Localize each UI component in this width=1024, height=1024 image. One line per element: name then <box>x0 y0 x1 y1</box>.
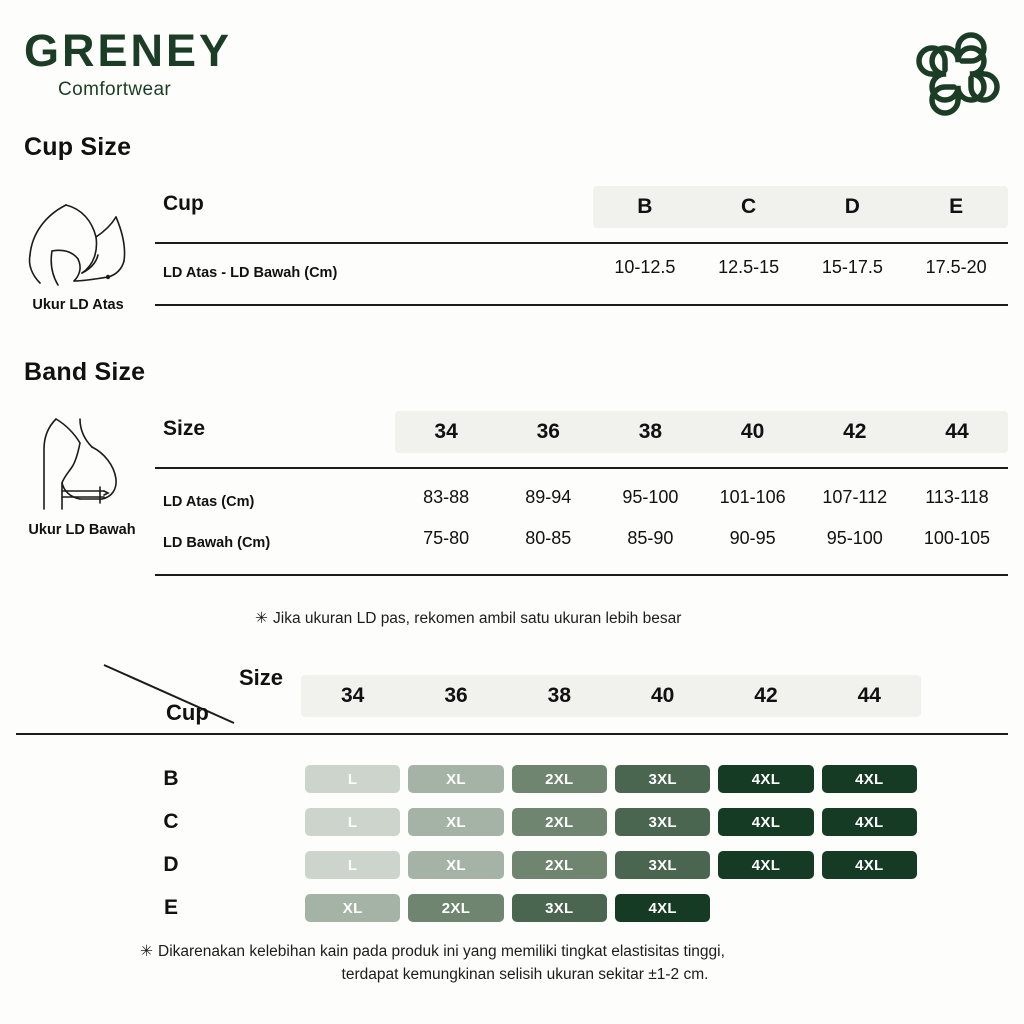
ukur-ld-atas-illustration: Ukur LD Atas <box>8 193 148 313</box>
note-recommendation-text: Jika ukuran LD pas, rekomen ambil satu u… <box>273 610 681 627</box>
cup-value-cell: 15-17.5 <box>801 253 905 281</box>
asterisk-icon: ✳ <box>140 940 158 963</box>
matrix-row-cup-label: B <box>153 765 189 793</box>
brand-tagline: Comfortwear <box>58 79 232 101</box>
band-column-header: 34 <box>395 411 497 453</box>
torso-underbust-measure-icon <box>22 413 142 518</box>
matrix-row: B L XL 2XL 3XL 4XL 4XL <box>16 765 1008 793</box>
size-chart-page: GRENEY Comfortwear Cup Size <box>0 0 1024 1024</box>
matrix-row: C L XL 2XL 3XL 4XL 4XL <box>16 808 1008 836</box>
cup-value-cell: 17.5-20 <box>904 253 1008 281</box>
matrix-column-header: 40 <box>611 675 714 717</box>
cup-size-table: Cup B C D E LD Atas - LD Bawah (Cm) 10-1… <box>155 186 1008 306</box>
illustration-caption: Ukur LD Bawah <box>8 522 156 538</box>
band-column-header: 38 <box>599 411 701 453</box>
cup-column-header: D <box>801 186 905 228</box>
band-column-header: 42 <box>804 411 906 453</box>
band-size-heading: Band Size <box>24 358 145 387</box>
band-table-divider-bottom <box>155 574 1008 576</box>
note-elasticity: ✳Dikarenakan kelebihan kain pada produk … <box>140 940 900 987</box>
quatrefoil-clover-logo-icon <box>916 32 1000 116</box>
matrix-row-pills: L XL 2XL 3XL 4XL 4XL <box>301 851 921 879</box>
band-value-cell: 83-88 <box>395 484 497 510</box>
band-column-headers: 34 36 38 40 42 44 <box>395 411 1008 453</box>
matrix-divider <box>16 733 1008 735</box>
band-row-label: LD Atas (Cm) <box>163 494 254 510</box>
size-pill: 4XL <box>822 808 917 836</box>
size-pill <box>822 894 917 922</box>
brand-name: GRENEY <box>24 28 232 73</box>
matrix-row: D L XL 2XL 3XL 4XL 4XL <box>16 851 1008 879</box>
cup-table-divider-top <box>155 242 1008 244</box>
band-value-row: 83-88 89-94 95-100 101-106 107-112 113-1… <box>395 484 1008 510</box>
band-column-header: 36 <box>497 411 599 453</box>
matrix-column-header: 44 <box>818 675 921 717</box>
band-table-header-label: Size <box>163 417 205 441</box>
cup-value-cell: 12.5-15 <box>697 253 801 281</box>
band-value-cell: 113-118 <box>906 484 1008 510</box>
size-pill: 2XL <box>512 851 607 879</box>
note-elasticity-line1: Dikarenakan kelebihan kain pada produk i… <box>158 943 725 960</box>
matrix-column-header: 36 <box>404 675 507 717</box>
matrix-row-cup-label: E <box>153 894 189 922</box>
size-pill: 4XL <box>718 765 813 793</box>
matrix-row-pills: L XL 2XL 3XL 4XL 4XL <box>301 808 921 836</box>
size-pill: L <box>305 851 400 879</box>
cup-column-header: B <box>593 186 697 228</box>
size-pill: 4XL <box>718 851 813 879</box>
cup-table-divider-bottom <box>155 304 1008 306</box>
band-column-header: 40 <box>702 411 804 453</box>
size-pill: 2XL <box>408 894 503 922</box>
size-pill: 4XL <box>615 894 710 922</box>
band-value-cell: 100-105 <box>906 525 1008 551</box>
size-pill: L <box>305 808 400 836</box>
matrix-column-header: 42 <box>714 675 817 717</box>
matrix-row-pills: L XL 2XL 3XL 4XL 4XL <box>301 765 921 793</box>
band-size-table: Size 34 36 38 40 42 44 LD Atas (Cm) 83-8… <box>155 411 1008 576</box>
band-value-cell: 80-85 <box>497 525 599 551</box>
note-recommendation: ✳Jika ukuran LD pas, rekomen ambil satu … <box>255 608 681 630</box>
band-value-cell: 107-112 <box>804 484 906 510</box>
matrix-corner-size-label: Size <box>239 665 283 691</box>
note-elasticity-line2: terdapat kemungkinan selisih ukuran seki… <box>140 963 900 986</box>
matrix-column-headers: 34 36 38 40 42 44 <box>301 675 921 717</box>
size-pill: 3XL <box>512 894 607 922</box>
cup-size-heading: Cup Size <box>24 133 131 162</box>
cup-column-headers: B C D E <box>593 186 1008 228</box>
band-value-cell: 95-100 <box>804 525 906 551</box>
band-value-cell: 101-106 <box>702 484 804 510</box>
band-value-row: 75-80 80-85 85-90 90-95 95-100 100-105 <box>395 525 1008 551</box>
header: GRENEY Comfortwear <box>24 28 1000 114</box>
matrix-row: E XL 2XL 3XL 4XL <box>16 894 1008 922</box>
asterisk-icon: ✳ <box>255 608 273 630</box>
size-pill <box>718 894 813 922</box>
cup-column-header: E <box>904 186 1008 228</box>
cup-row-label: LD Atas - LD Bawah (Cm) <box>163 265 337 281</box>
band-value-cell: 95-100 <box>599 484 701 510</box>
band-value-cell: 89-94 <box>497 484 599 510</box>
matrix-row-cup-label: D <box>153 851 189 879</box>
band-table-divider-top <box>155 467 1008 469</box>
size-pill: 3XL <box>615 808 710 836</box>
band-column-header: 44 <box>906 411 1008 453</box>
matrix-row-cup-label: C <box>153 808 189 836</box>
illustration-caption: Ukur LD Atas <box>8 297 148 313</box>
cup-table-header-label: Cup <box>163 192 204 216</box>
size-pill: 3XL <box>615 851 710 879</box>
size-pill: 2XL <box>512 765 607 793</box>
matrix-column-header: 34 <box>301 675 404 717</box>
band-value-cell: 90-95 <box>702 525 804 551</box>
band-value-cell: 85-90 <box>599 525 701 551</box>
size-pill: 4XL <box>822 851 917 879</box>
size-pill: XL <box>408 808 503 836</box>
band-value-cell: 75-80 <box>395 525 497 551</box>
cup-column-header: C <box>697 186 801 228</box>
size-pill: XL <box>408 851 503 879</box>
size-pill: L <box>305 765 400 793</box>
band-row-label: LD Bawah (Cm) <box>163 535 270 551</box>
size-pill: 3XL <box>615 765 710 793</box>
matrix-row-pills: XL 2XL 3XL 4XL <box>301 894 921 922</box>
cup-size-matrix: Size Cup 34 36 38 40 42 44 B L XL 2XL 3X… <box>16 655 1008 925</box>
size-pill: XL <box>408 765 503 793</box>
size-pill: 4XL <box>718 808 813 836</box>
size-pill: XL <box>305 894 400 922</box>
cup-value-row: 10-12.5 12.5-15 15-17.5 17.5-20 <box>593 253 1008 281</box>
matrix-corner-cell: Size Cup <box>86 655 306 733</box>
cup-value-cell: 10-12.5 <box>593 253 697 281</box>
ukur-ld-bawah-illustration: Ukur LD Bawah <box>8 413 156 538</box>
size-pill: 2XL <box>512 808 607 836</box>
torso-upper-bust-measure-icon <box>18 193 138 293</box>
matrix-column-header: 38 <box>508 675 611 717</box>
matrix-corner-cup-label: Cup <box>166 700 209 726</box>
size-pill: 4XL <box>822 765 917 793</box>
brand-block: GRENEY Comfortwear <box>24 28 232 101</box>
